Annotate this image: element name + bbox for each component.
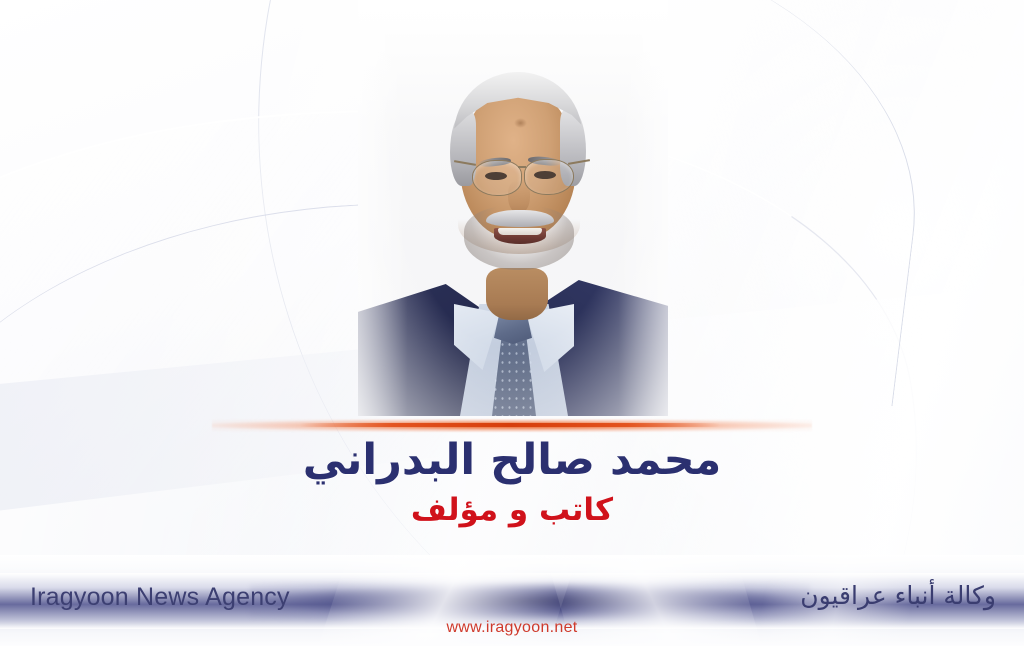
agency-name-english: Iragyoon News Agency	[30, 583, 290, 612]
orange-divider-line	[300, 423, 720, 427]
portrait-photo	[358, 0, 668, 416]
banner-dark-core	[250, 583, 810, 619]
news-agency-profile-card: محمد صالح البدراني كاتب و مؤلف Iragyoon …	[0, 0, 1024, 646]
photo-vignette	[358, 0, 668, 416]
banner-top-sheen	[0, 555, 1024, 579]
website-url[interactable]: www.iragyoon.net	[0, 619, 1024, 637]
agency-name-arabic: وكالة أنباء عراقيون	[800, 581, 996, 610]
person-info: محمد صالح البدراني كاتب و مؤلف	[0, 436, 1024, 529]
person-role: كاتب و مؤلف	[0, 492, 1024, 529]
footer-banner: Iragyoon News Agency وكالة أنباء عراقيون…	[0, 555, 1024, 646]
person-name: محمد صالح البدراني	[0, 436, 1024, 484]
